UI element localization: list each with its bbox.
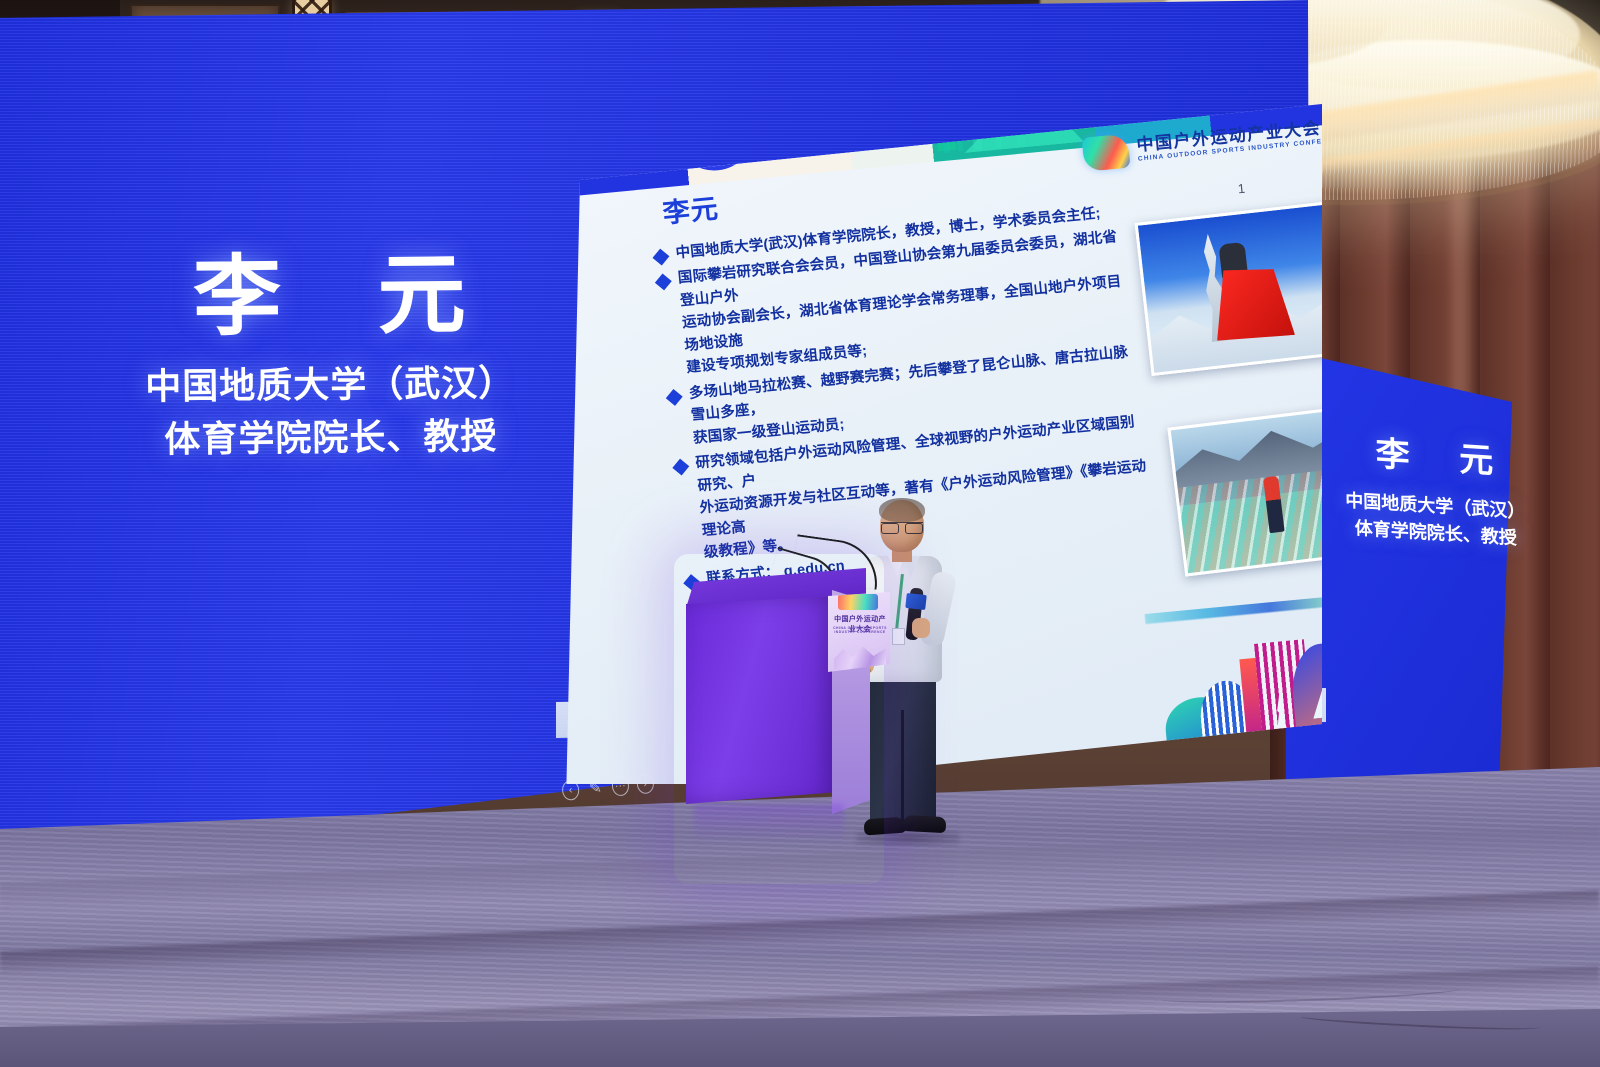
led-left-speaker-name: 李 元 (94, 246, 565, 346)
slide-title: 李元 (661, 186, 720, 230)
speaker-hair (879, 498, 925, 522)
led-left-affiliation-line1: 中国地质大学（武汉） (95, 357, 566, 413)
led-left-name-block: 李 元 中国地质大学（武汉） 体育学院院长、教授 (94, 246, 566, 466)
speaker-badge (892, 628, 905, 645)
next-slide-button[interactable]: › (636, 773, 655, 794)
podium-reflection (694, 804, 844, 844)
previous-slide-button[interactable]: ‹ (561, 780, 580, 801)
more-options-icon[interactable]: ··· (611, 775, 630, 796)
podium-placard: 中国户外运动产业大会 CHINA OUTDOOR SPORTS INDUSTRY… (828, 592, 890, 672)
speaker-hand-holding-mic (912, 618, 930, 638)
podium-front-face (686, 596, 838, 804)
podium: 中国户外运动产业大会 CHINA OUTDOOR SPORTS INDUSTRY… (686, 568, 866, 868)
speaker-shoe-left (863, 817, 906, 836)
diamond-bullet-icon (666, 389, 683, 406)
slide-page-number: 1 (1237, 181, 1246, 197)
microphone-flag (905, 593, 926, 610)
slide-photo-summit (1135, 201, 1322, 376)
diamond-bullet-icon (672, 459, 689, 476)
led-right-name-block: 李 元 中国地质大学（武汉） 体育学院院长、教授 (1299, 421, 1571, 555)
conference-logo-icon (1082, 134, 1131, 172)
speaker-leg-split (901, 710, 904, 824)
led-left-affiliation-line2: 体育学院院长、教授 (96, 410, 567, 466)
glasses-icon (881, 522, 923, 531)
diamond-bullet-icon (655, 274, 672, 291)
podium-placard-en-text: CHINA OUTDOOR SPORTS INDUSTRY CONFERENCE (832, 626, 888, 634)
speaker-shoe-right (902, 815, 947, 833)
diamond-bullet-icon (653, 249, 670, 266)
pen-icon[interactable]: ✎ (586, 777, 604, 798)
stage-scene: 李 元 中国地质大学（武汉） 体育学院院长、教授 2024 李元 (0, 0, 1600, 1067)
art-gradient-band (1144, 587, 1322, 624)
podium-logo-icon (838, 594, 878, 610)
